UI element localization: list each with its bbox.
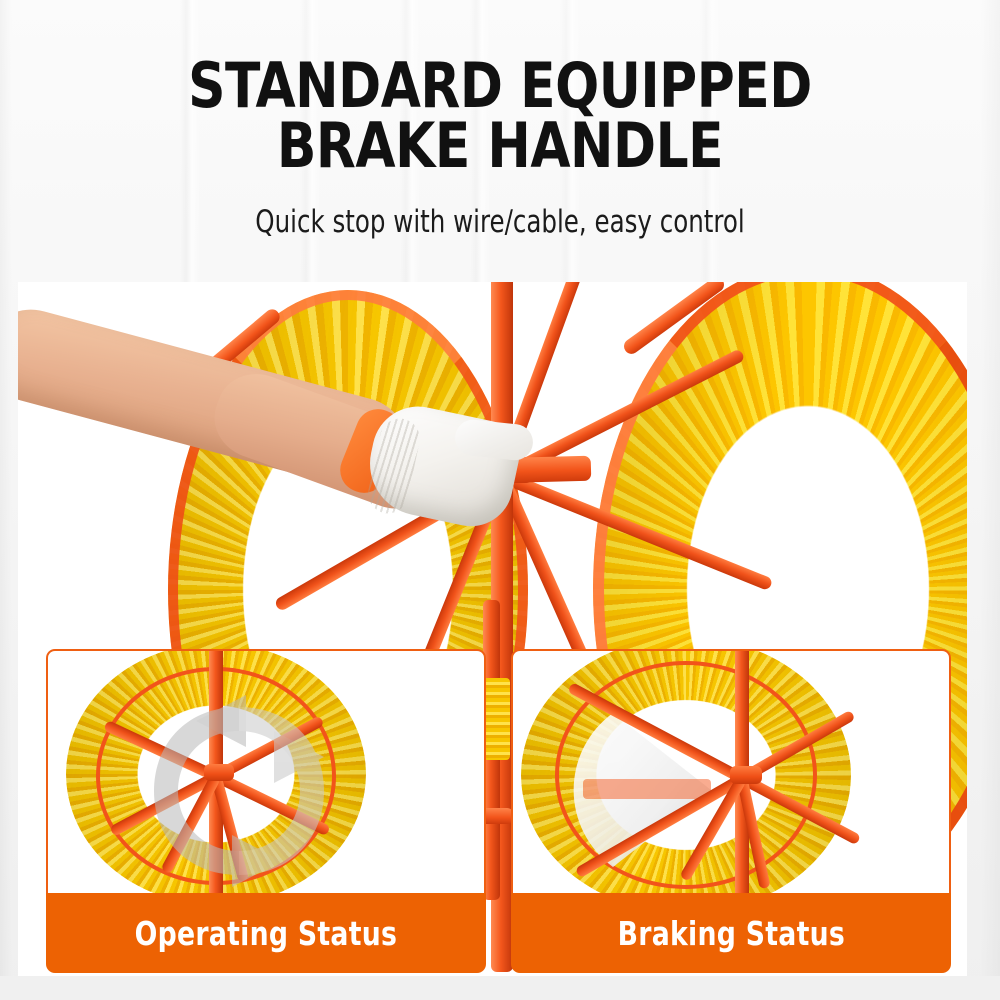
footer-strip xyxy=(0,976,1000,1000)
page-subtitle: Quick stop with wire/cable, easy control xyxy=(60,204,940,240)
mini-hub-icon xyxy=(730,766,762,784)
product-feature-banner: STANDARD EQUIPPED BRAKE HANDLE Quick sto… xyxy=(0,0,1000,1000)
header: STANDARD EQUIPPED BRAKE HANDLE Quick sto… xyxy=(0,0,1000,282)
panel-operating-caption: Operating Status xyxy=(46,893,486,973)
panel-braking-status[interactable]: Braking Status xyxy=(511,649,951,973)
panel-operating-caption-label: Operating Status xyxy=(135,914,398,953)
panel-braking-photo xyxy=(511,649,951,893)
panel-operating-photo xyxy=(46,649,486,893)
headline-line-2: BRAKE HANDLE xyxy=(35,116,965,176)
panel-braking-caption: Braking Status xyxy=(511,893,951,973)
panel-operating-status[interactable]: Operating Status xyxy=(46,649,486,973)
panel-braking-caption-label: Braking Status xyxy=(617,914,844,953)
page-title: STANDARD EQUIPPED BRAKE HANDLE xyxy=(35,56,965,176)
rotation-arrows-icon xyxy=(134,691,344,891)
